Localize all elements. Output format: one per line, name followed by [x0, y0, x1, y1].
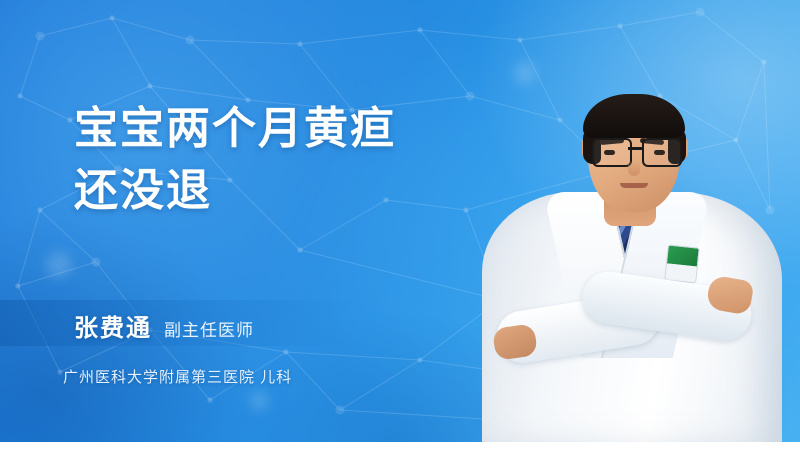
hospital-badge [664, 244, 700, 283]
doctor-photo [470, 0, 800, 450]
lens-left [592, 138, 632, 167]
doctor-name: 张费通 [74, 308, 152, 343]
video-cover-image: 宝宝两个月黄疸 还没退 张费通 副主任医师 广州医科大学附属第三医院 儿科 [0, 0, 800, 450]
title-line-2: 还没退 [74, 160, 504, 222]
glasses-bridge [628, 147, 642, 150]
bokeh-dot [46, 252, 72, 278]
nose [628, 160, 640, 176]
doctor-rank: 副主任医师 [164, 316, 254, 341]
bokeh-dot [250, 392, 268, 410]
mouth [620, 183, 648, 188]
page-title: 宝宝两个月黄疸 还没退 [74, 98, 504, 222]
doctor-name-row: 张费通 副主任医师 [74, 308, 254, 343]
doctor-organization: 广州医科大学附属第三医院 儿科 [63, 366, 292, 387]
title-line-1: 宝宝两个月黄疸 [74, 98, 504, 160]
bottom-white-strip [0, 442, 800, 450]
hair [583, 94, 685, 138]
lens-right [642, 138, 682, 167]
